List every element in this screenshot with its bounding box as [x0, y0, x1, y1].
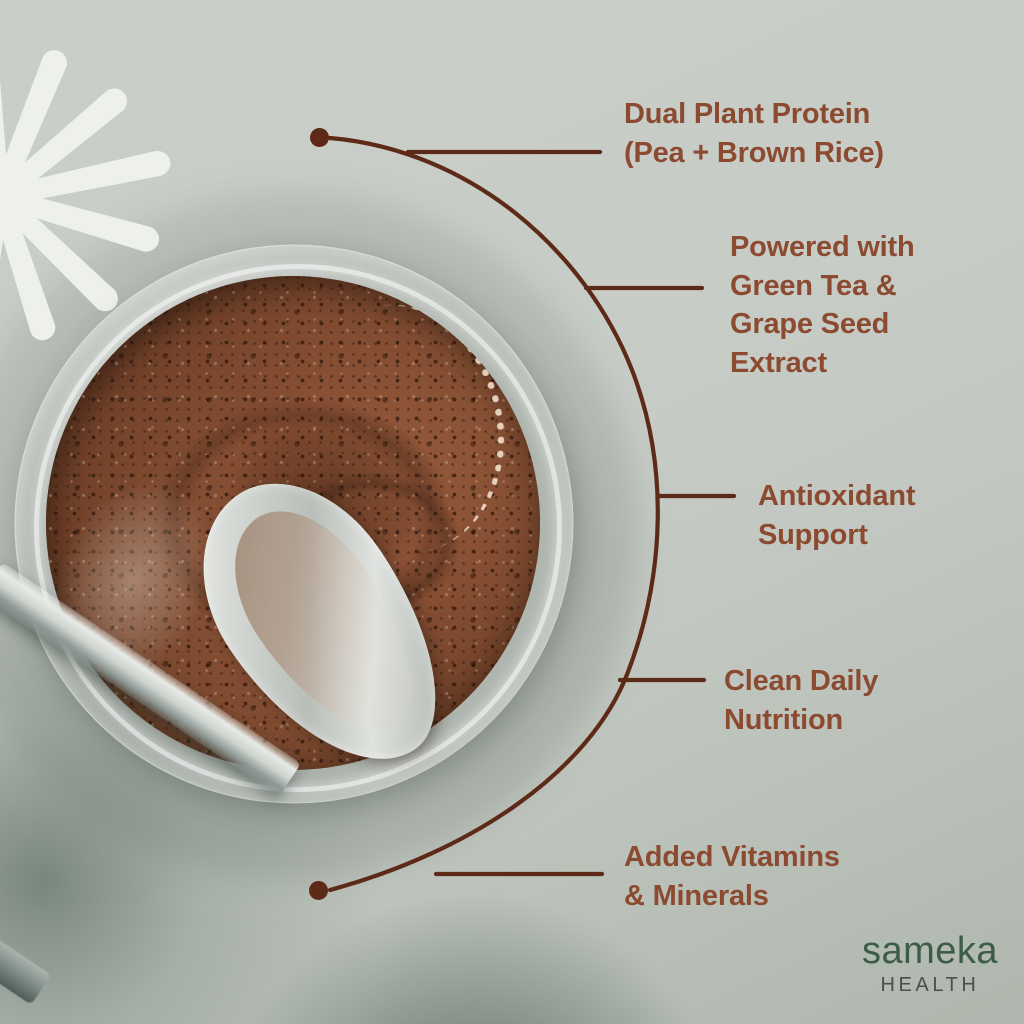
brand-logo: sameka HEALTH — [862, 932, 998, 1000]
callout-dot-bottom — [309, 881, 328, 900]
callout-label-antioxidant-support: Antioxidant Support — [758, 477, 998, 554]
callout-label-clean-daily-nutrition: Clean Daily Nutrition — [724, 662, 964, 739]
callout-label-green-tea-grape-seed: Powered with Green Tea & Grape Seed Extr… — [730, 228, 970, 382]
callout-label-added-vitamins-minerals: Added Vitamins & Minerals — [624, 838, 924, 915]
callout-label-dual-plant-protein: Dual Plant Protein (Pea + Brown Rice) — [624, 95, 954, 172]
callout-arc — [330, 138, 658, 890]
callout-dot-top — [310, 128, 329, 147]
logo-tagline: HEALTH — [862, 970, 998, 1000]
logo-wordmark: sameka — [862, 932, 998, 970]
promo-graphic: Dual Plant Protein (Pea + Brown Rice) Po… — [0, 0, 1024, 1024]
